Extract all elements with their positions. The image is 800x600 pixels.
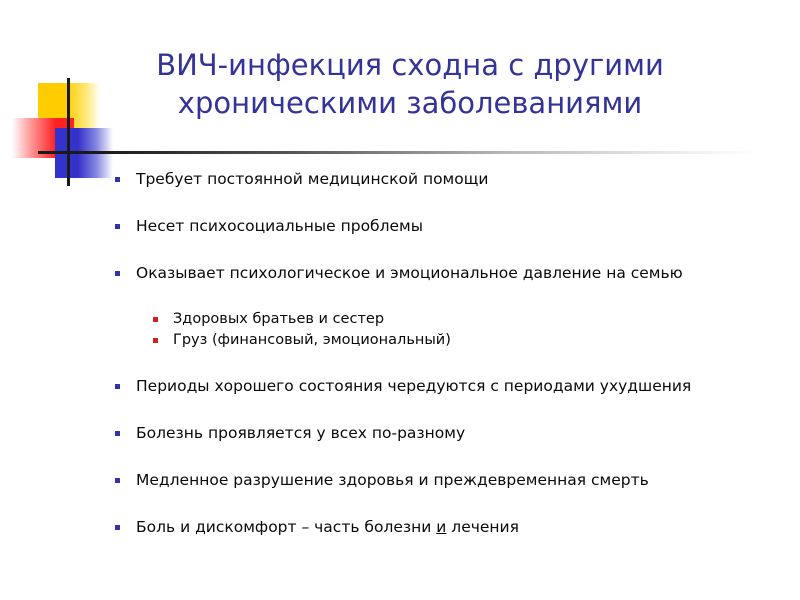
sub-bullet-marker-icon: [153, 317, 158, 322]
slide-title-line-2: хроническими заболеваниями: [60, 84, 760, 122]
bullet-item: Боль и дискомфорт – часть болезни и лече…: [108, 516, 788, 539]
bullet-marker-icon: [115, 525, 120, 530]
bullet-text: Периоды хорошего состояния чередуются с …: [136, 377, 691, 395]
bullet-text: Болезнь проявляется у всех по-разному: [136, 424, 465, 442]
slide-title: ВИЧ-инфекция сходна с другими хронически…: [60, 46, 760, 122]
bullet-marker-icon: [115, 177, 120, 182]
bullet-item: Периоды хорошего состояния чередуются с …: [108, 375, 788, 398]
bullet-item: Оказывает психологическое и эмоционально…: [108, 262, 788, 285]
bullet-text: Несет психосоциальные проблемы: [136, 217, 423, 235]
bullet-marker-icon: [115, 478, 120, 483]
bullet-marker-icon: [115, 224, 120, 229]
slide-body-bullet-list: Требует постоянной медицинской помощиНес…: [108, 168, 788, 563]
bullet-item: Болезнь проявляется у всех по-разному: [108, 422, 788, 445]
bullet-marker-icon: [115, 384, 120, 389]
bullet-item: Несет психосоциальные проблемы: [108, 215, 788, 238]
slide-title-line-1: ВИЧ-инфекция сходна с другими: [60, 46, 760, 84]
sub-bullet-text: Здоровых братьев и сестер: [173, 311, 384, 327]
bullet-marker-icon: [115, 431, 120, 436]
presentation-slide: ВИЧ-инфекция сходна с другими хронически…: [0, 0, 800, 600]
sub-bullet-item: Здоровых братьев и сестер: [108, 309, 788, 330]
bullet-text: Оказывает психологическое и эмоционально…: [136, 264, 683, 282]
bullet-marker-icon: [115, 271, 120, 276]
bullet-item: Медленное разрушение здоровья и преждевр…: [108, 469, 788, 492]
sub-bullet-item: Груз (финансовый, эмоциональный): [108, 330, 788, 351]
sub-bullet-text: Груз (финансовый, эмоциональный): [173, 332, 451, 348]
bullet-text: Медленное разрушение здоровья и преждевр…: [136, 471, 649, 489]
title-divider-line: [38, 151, 760, 154]
bullet-item: Требует постоянной медицинской помощи: [108, 168, 788, 191]
sub-bullet-marker-icon: [153, 338, 158, 343]
bullet-text: Боль и дискомфорт – часть болезни и лече…: [136, 518, 519, 536]
bullet-text: Требует постоянной медицинской помощи: [136, 170, 488, 188]
